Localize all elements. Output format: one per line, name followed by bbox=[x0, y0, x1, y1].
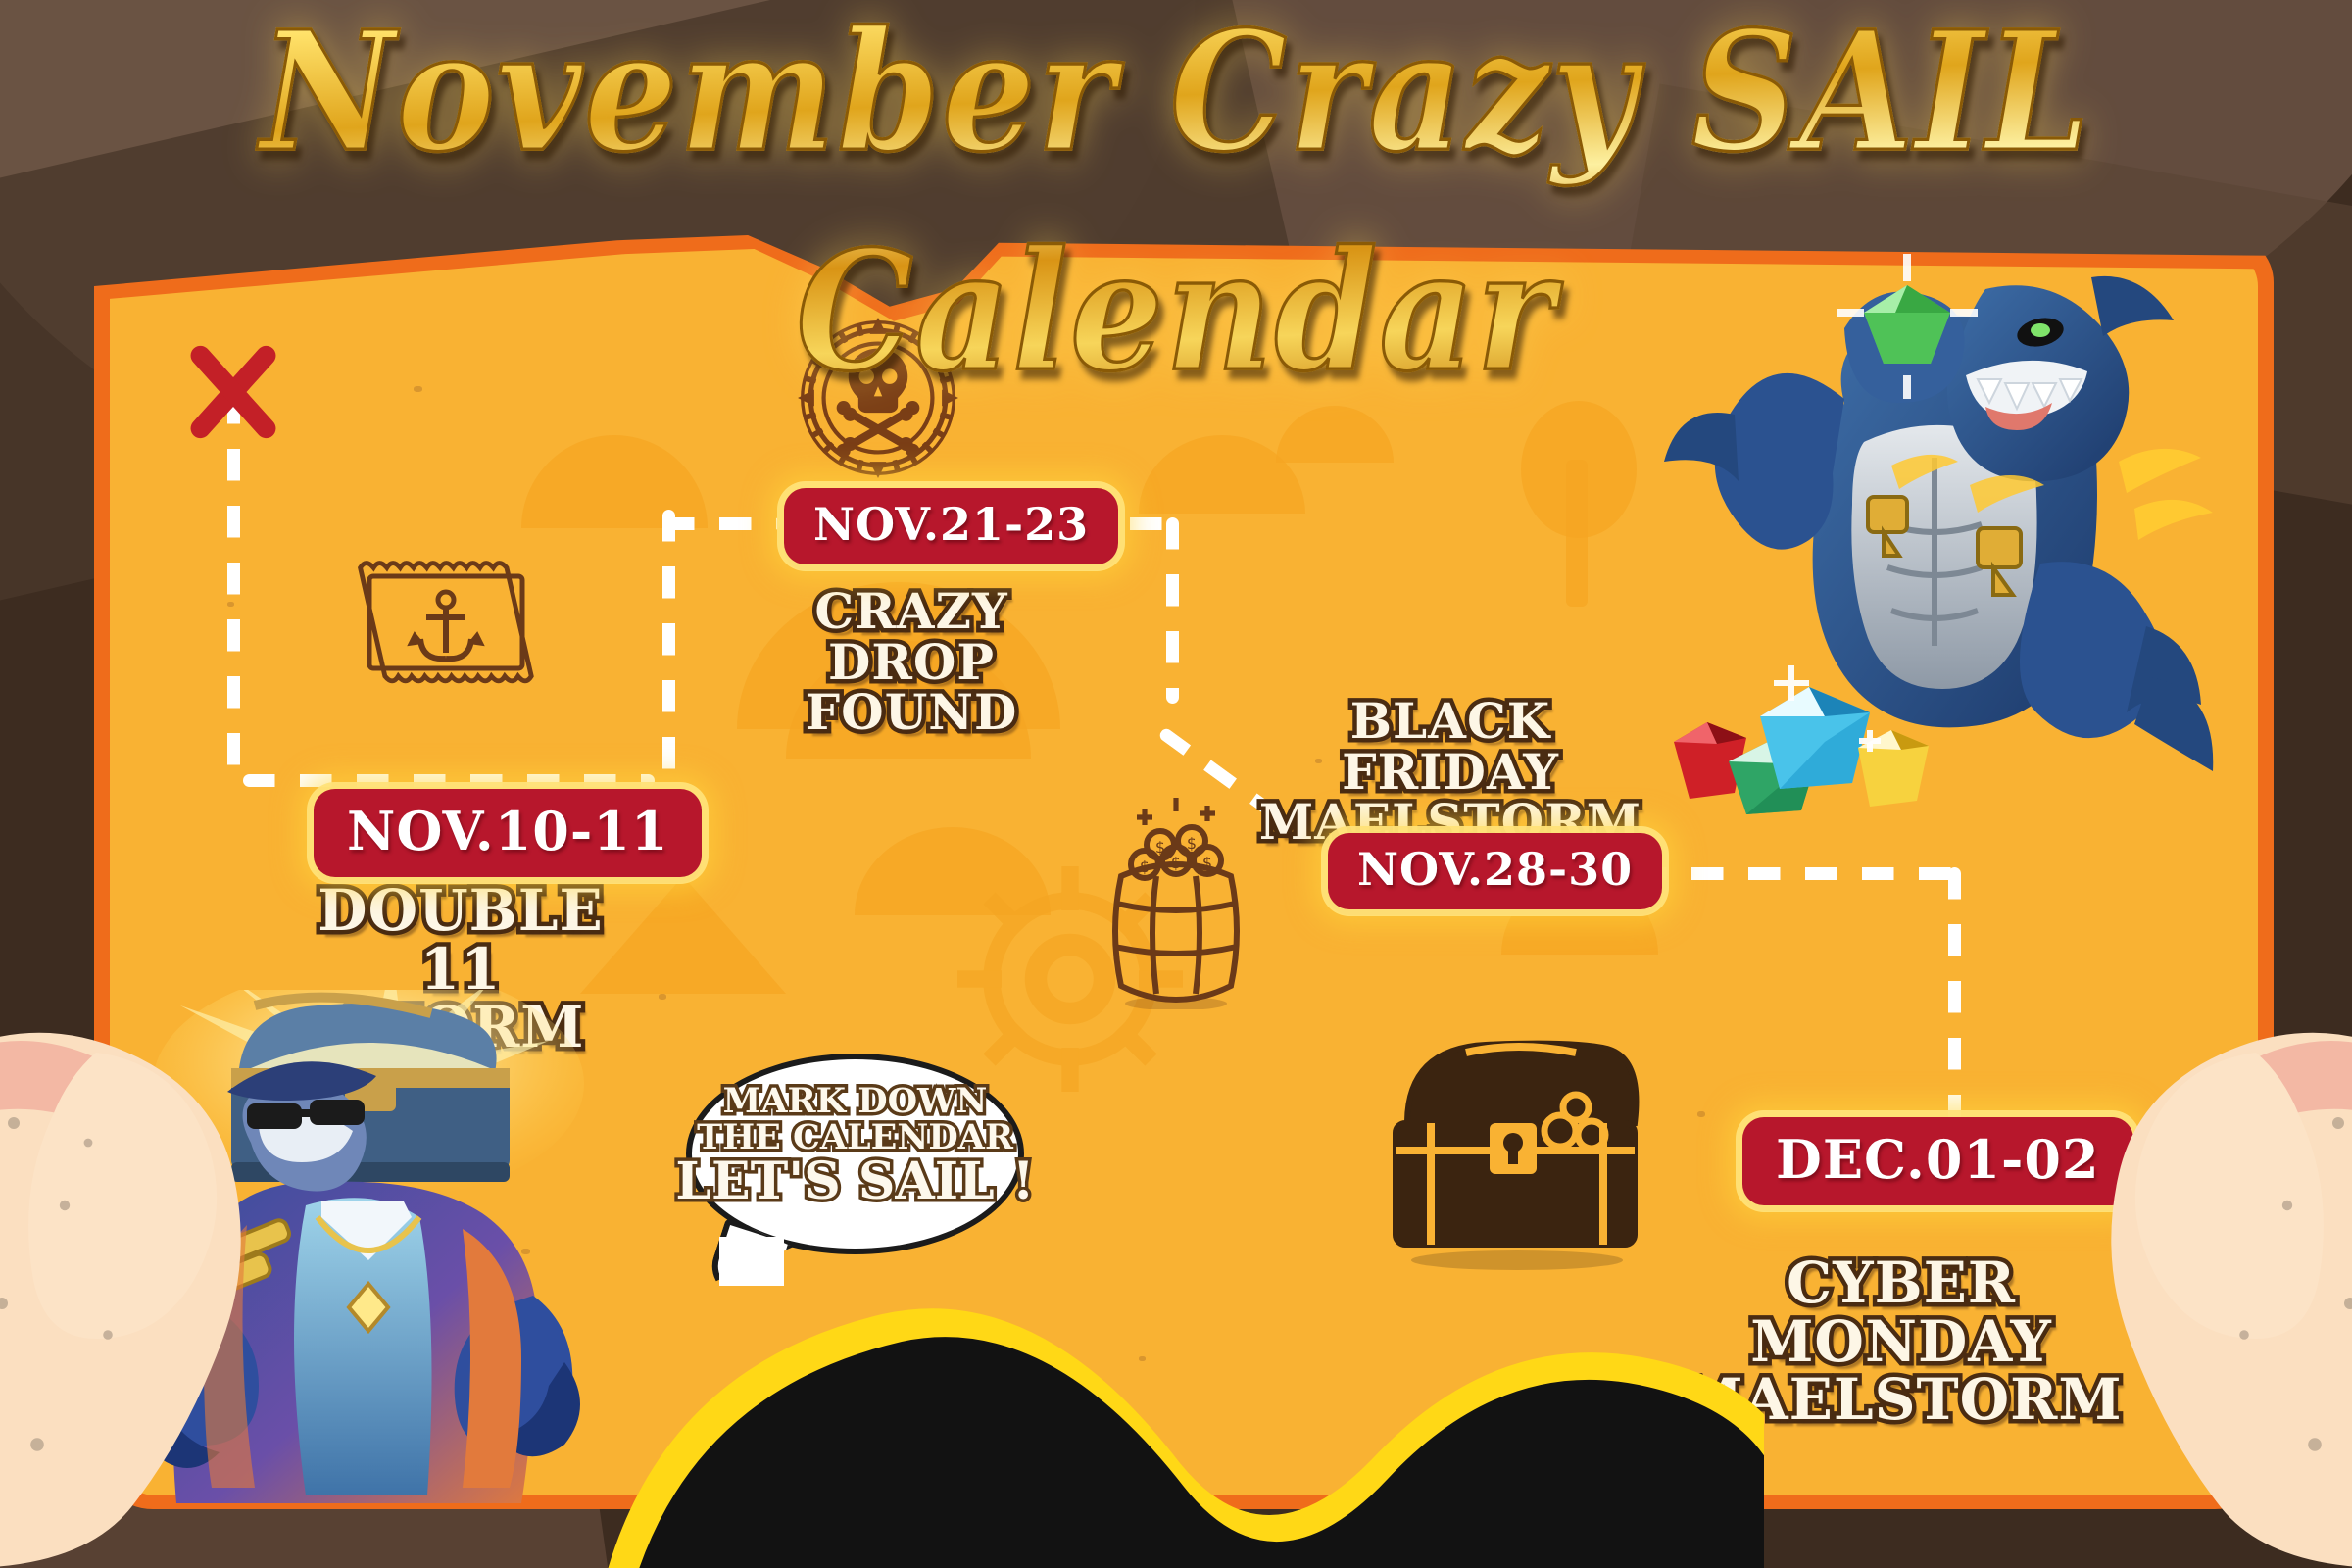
paper-speckle bbox=[1697, 1111, 1705, 1117]
svg-text:$: $ bbox=[1140, 857, 1150, 876]
holding-hand-left bbox=[0, 931, 294, 1568]
map-tree-top bbox=[1521, 401, 1637, 538]
page-title-text: November Crazy SAIL Calendar bbox=[0, 0, 2352, 421]
map-hill-1 bbox=[521, 435, 708, 528]
coin-barrel-icon: $ $ $ $ $ bbox=[1078, 794, 1274, 1009]
date-badge-crazy-drop[interactable]: NOV.21-23 bbox=[784, 488, 1118, 564]
gem-pile bbox=[1666, 632, 1950, 828]
paper-speckle bbox=[227, 602, 234, 607]
speech-line-3: LET'S SAIL ! bbox=[675, 1156, 1034, 1207]
anchor-stamp-icon bbox=[348, 549, 544, 696]
speech-bubble-text: MARK DOWN THE CALENDAR LET'S SAIL ! bbox=[686, 1053, 1024, 1254]
date-badge-black-friday[interactable]: NOV.28-30 bbox=[1328, 833, 1662, 909]
bottom-dark-arc bbox=[608, 1279, 1764, 1568]
speech-bubble: MARK DOWN THE CALENDAR LET'S SAIL ! bbox=[686, 1053, 1024, 1254]
speech-line-1: MARK DOWN bbox=[723, 1084, 988, 1118]
paper-speckle bbox=[659, 994, 666, 1000]
holding-hand-right bbox=[2058, 931, 2352, 1568]
svg-text:$: $ bbox=[1202, 854, 1212, 872]
event-label-black-friday: BLACK FRIDAY MAELSTORM bbox=[1254, 696, 1646, 848]
treasure-chest-icon bbox=[1372, 1009, 1666, 1274]
svg-text:$: $ bbox=[1155, 838, 1165, 857]
event-label-crazy-drop: CRAZY DROP FOUND bbox=[745, 586, 1078, 738]
page-title: November Crazy SAIL Calendar bbox=[0, 6, 2352, 212]
date-badge-double-11[interactable]: NOV.10-11 bbox=[314, 789, 702, 877]
svg-text:$: $ bbox=[1187, 834, 1197, 853]
speech-line-2: THE CALENDAR bbox=[697, 1120, 1013, 1154]
svg-text:$: $ bbox=[1171, 854, 1181, 872]
